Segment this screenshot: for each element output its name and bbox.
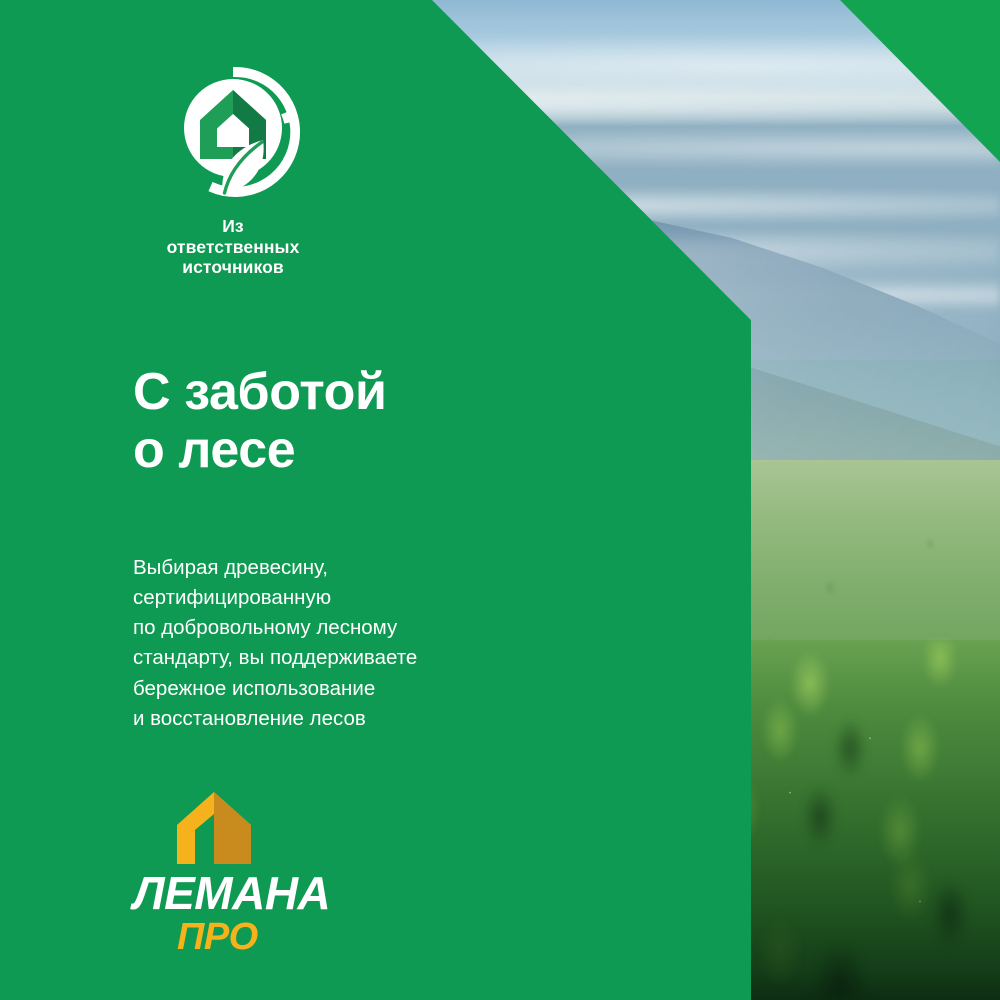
brand-name: ЛЕМАНА <box>133 870 393 916</box>
poster: Из ответственных источников С заботой о … <box>0 0 1000 1000</box>
brand-logo: ЛЕМАНА ПРО <box>133 790 393 956</box>
body-paragraph: Выбирая древесину, сертифицированную по … <box>133 553 417 735</box>
brand-suffix: ПРО <box>177 918 393 956</box>
lemana-house-icon <box>175 790 253 866</box>
certification-badge: Из ответственных источников <box>158 62 308 278</box>
content-panel: Из ответственных источников С заботой о … <box>0 0 560 1000</box>
house-leaf-circle-icon <box>163 62 303 202</box>
page-title: С заботой о лесе <box>133 363 387 479</box>
certification-caption: Из ответственных источников <box>158 216 308 278</box>
